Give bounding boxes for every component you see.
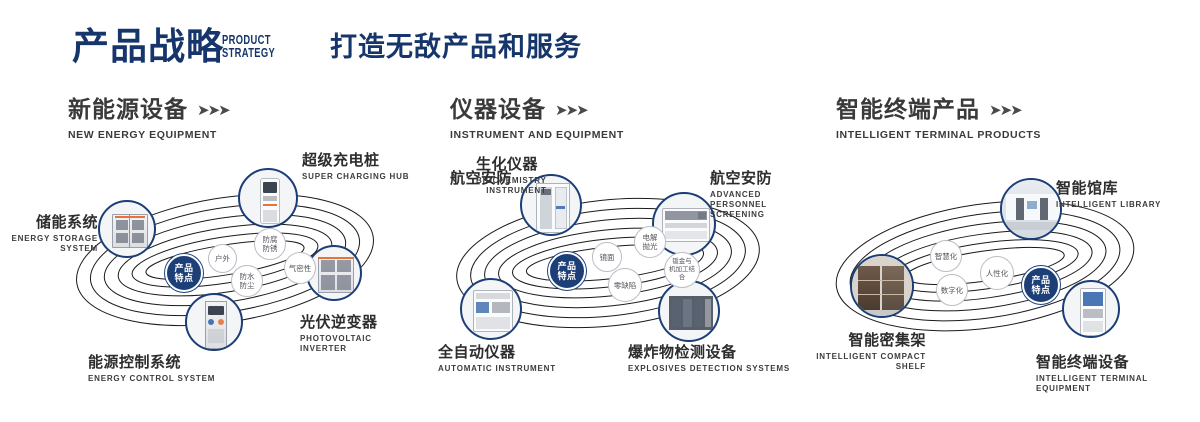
section-heading-new-energy: 新能源设备➤➤➤ NEW ENERGY EQUIPMENT <box>68 96 229 141</box>
node-energy-control-system[interactable] <box>185 293 243 351</box>
label-en: INTELLIGENT COMPACT SHELF <box>804 352 926 372</box>
label-en: ENERGY CONTROL SYSTEM <box>88 374 215 384</box>
node-super-charging-hub[interactable] <box>238 168 298 228</box>
label-en: INTELLIGENT TERMINAL EQUIPMENT <box>1036 374 1200 394</box>
label-photovoltaic-inverter: 光伏逆变器 PHOTOVOLTAIC INVERTER <box>300 314 420 354</box>
keyword-bubble[interactable]: 人性化 <box>980 256 1014 290</box>
center-badge-line1: 产品 <box>557 261 576 271</box>
keyword-label: 零缺陷 <box>614 281 637 290</box>
smart-library-photo <box>1002 180 1060 238</box>
keyword-bubble[interactable]: 防腐 防锈 <box>254 228 286 260</box>
keyword-bubble[interactable]: 智慧化 <box>930 240 962 272</box>
label-automatic-instrument: 全自动仪器 AUTOMATIC INSTRUMENT <box>438 344 556 374</box>
section-title-en: INSTRUMENT AND EQUIPMENT <box>450 129 624 141</box>
center-badge-product-features-1[interactable]: 产品 特点 <box>165 254 203 292</box>
explosives-detector-photo <box>660 282 718 340</box>
keyword-label: 户外 <box>215 254 230 263</box>
smart-terminal-photo <box>1064 282 1118 336</box>
label-cn: 智能终端设备 <box>1036 354 1200 372</box>
label-cn: 航空安防 <box>710 170 810 188</box>
label-intelligent-terminal-equipment: 智能终端设备 INTELLIGENT TERMINAL EQUIPMENT <box>1036 354 1200 394</box>
label-cn: 能源控制系统 <box>88 354 215 372</box>
label-energy-control-system: 能源控制系统 ENERGY CONTROL SYSTEM <box>88 354 215 384</box>
center-badge-product-features-3[interactable]: 产品 特点 <box>1022 266 1060 304</box>
keyword-bubble[interactable]: 气密性 <box>284 252 316 284</box>
section-title-en: INTELLIGENT TERMINAL PRODUCTS <box>836 129 1041 141</box>
label-cn: 生化仪器 <box>476 156 547 174</box>
compact-shelf-photo <box>852 256 912 316</box>
keyword-bubble[interactable]: 数字化 <box>936 274 968 306</box>
label-cn: 超级充电桩 <box>302 152 409 170</box>
keyword-label: 数字化 <box>941 286 964 295</box>
label-cn: 智能馆库 <box>1056 180 1161 198</box>
label-en: EXPLOSIVES DETECTION SYSTEMS <box>628 364 790 374</box>
label-en: INTELLIGENT LIBRARY <box>1056 200 1161 210</box>
center-badge-line2: 特点 <box>174 273 193 283</box>
keyword-label: 人性化 <box>986 269 1009 278</box>
label-cn: 全自动仪器 <box>438 344 556 362</box>
keyword-bubble[interactable]: 电解 抛光 <box>634 226 666 258</box>
label-advanced-personnel-screening: 航空安防 ADVANCED PERSONNEL SCREENING <box>710 170 810 220</box>
label-cn: 智能密集架 <box>804 332 926 350</box>
label-en: ADVANCED PERSONNEL SCREENING <box>710 190 810 220</box>
keyword-label: 智慧化 <box>935 252 958 261</box>
control-cabinet-photo <box>187 295 241 349</box>
keyword-bubble[interactable]: 户外 <box>208 244 237 273</box>
page-title: 产品战略 <box>72 28 224 65</box>
center-badge-line2: 特点 <box>557 271 576 281</box>
keyword-label: 镜面 <box>600 253 615 262</box>
label-explosives-detection-systems: 爆炸物检测设备 EXPLOSIVES DETECTION SYSTEMS <box>628 344 790 374</box>
node-intelligent-compact-shelf[interactable] <box>850 254 914 318</box>
section-title-cn: 智能终端产品➤➤➤ <box>836 96 1041 124</box>
page-subtitle: 打造无敌产品和服务 <box>330 34 582 61</box>
keyword-bubble[interactable]: 镜面 <box>592 242 622 272</box>
label-en: PHOTOVOLTAIC INVERTER <box>300 334 420 354</box>
section-heading-instrument: 仪器设备➤➤➤ INSTRUMENT AND EQUIPMENT <box>450 96 624 141</box>
keyword-label: 防水 防尘 <box>240 272 255 290</box>
section-title-cn: 新能源设备➤➤➤ <box>68 96 229 124</box>
keyword-bubble[interactable]: 零缺陷 <box>608 268 642 302</box>
section-title-en: NEW ENERGY EQUIPMENT <box>68 129 229 141</box>
chevron-right-icons: ➤➤➤ <box>197 98 229 124</box>
keyword-bubble[interactable]: 防水 防尘 <box>231 265 263 297</box>
diagram-group-new-energy: 产品 特点 户外 防腐 防锈 防水 防尘 气密性 储能系统 ENERGY STO… <box>30 148 420 396</box>
label-super-charging-hub: 超级充电桩 SUPER CHARGING HUB <box>302 152 409 182</box>
chevron-right-icons: ➤➤➤ <box>989 98 1021 124</box>
label-en: AUTOMATIC INSTRUMENT <box>438 364 556 374</box>
keyword-bubble[interactable]: 钣金与 机加工结合 <box>664 252 700 288</box>
label-biochemistry-instrument: 生化仪器 BIOCHEMISTRY INSTRUMENT <box>476 156 547 196</box>
label-intelligent-library: 智能馆库 INTELLIGENT LIBRARY <box>1056 180 1161 210</box>
label-cn: 储能系统 <box>0 214 98 232</box>
diagram-group-intelligent: 产品 特点 智慧化 人性化 数字化 智能馆库 INTELLIGENT LIBRA… <box>810 148 1200 396</box>
center-badge-line1: 产品 <box>174 263 193 273</box>
center-badge-product-features-2[interactable]: 产品 特点 <box>548 252 586 290</box>
label-en: SUPER CHARGING HUB <box>302 172 409 182</box>
pv-inverter-photo <box>308 247 360 299</box>
section-heading-intelligent: 智能终端产品➤➤➤ INTELLIGENT TERMINAL PRODUCTS <box>836 96 1041 141</box>
label-energy-storage-system: 储能系统 ENERGY STORAGE SYSTEM <box>0 214 98 254</box>
node-energy-storage-system[interactable] <box>98 200 156 258</box>
label-cn: 爆炸物检测设备 <box>628 344 790 362</box>
diagram-group-instrument: 产品 特点 镜面 电解 抛光 零缺陷 钣金与 机加工结合 航空安防 生化仪器 B… <box>420 148 810 396</box>
keyword-label: 防腐 防锈 <box>263 235 278 253</box>
battery-cabinet-photo <box>100 202 154 256</box>
label-en: ENERGY STORAGE SYSTEM <box>0 234 98 254</box>
center-badge-line2: 特点 <box>1031 285 1050 295</box>
page-header: 产品战略 PRODUCT STRATEGY 打造无敌产品和服务 <box>0 0 1200 90</box>
node-intelligent-library[interactable] <box>1000 178 1062 240</box>
charging-pile-photo <box>240 170 296 226</box>
page-title-english: PRODUCT STRATEGY <box>222 33 275 59</box>
keyword-label: 气密性 <box>289 264 312 273</box>
node-automatic-instrument[interactable] <box>460 278 522 340</box>
label-en: BIOCHEMISTRY INSTRUMENT <box>476 176 547 196</box>
center-badge-line1: 产品 <box>1031 275 1050 285</box>
section-title-cn: 仪器设备➤➤➤ <box>450 96 624 124</box>
keyword-label: 电解 抛光 <box>643 233 658 251</box>
node-intelligent-terminal-equipment[interactable] <box>1062 280 1120 338</box>
keyword-label: 钣金与 机加工结合 <box>667 258 697 282</box>
chevron-right-icons: ➤➤➤ <box>555 98 587 124</box>
automatic-instrument-photo <box>462 280 520 338</box>
label-intelligent-compact-shelf: 智能密集架 INTELLIGENT COMPACT SHELF <box>804 332 926 372</box>
label-cn: 光伏逆变器 <box>300 314 420 332</box>
node-explosives-detection-systems[interactable] <box>658 280 720 342</box>
